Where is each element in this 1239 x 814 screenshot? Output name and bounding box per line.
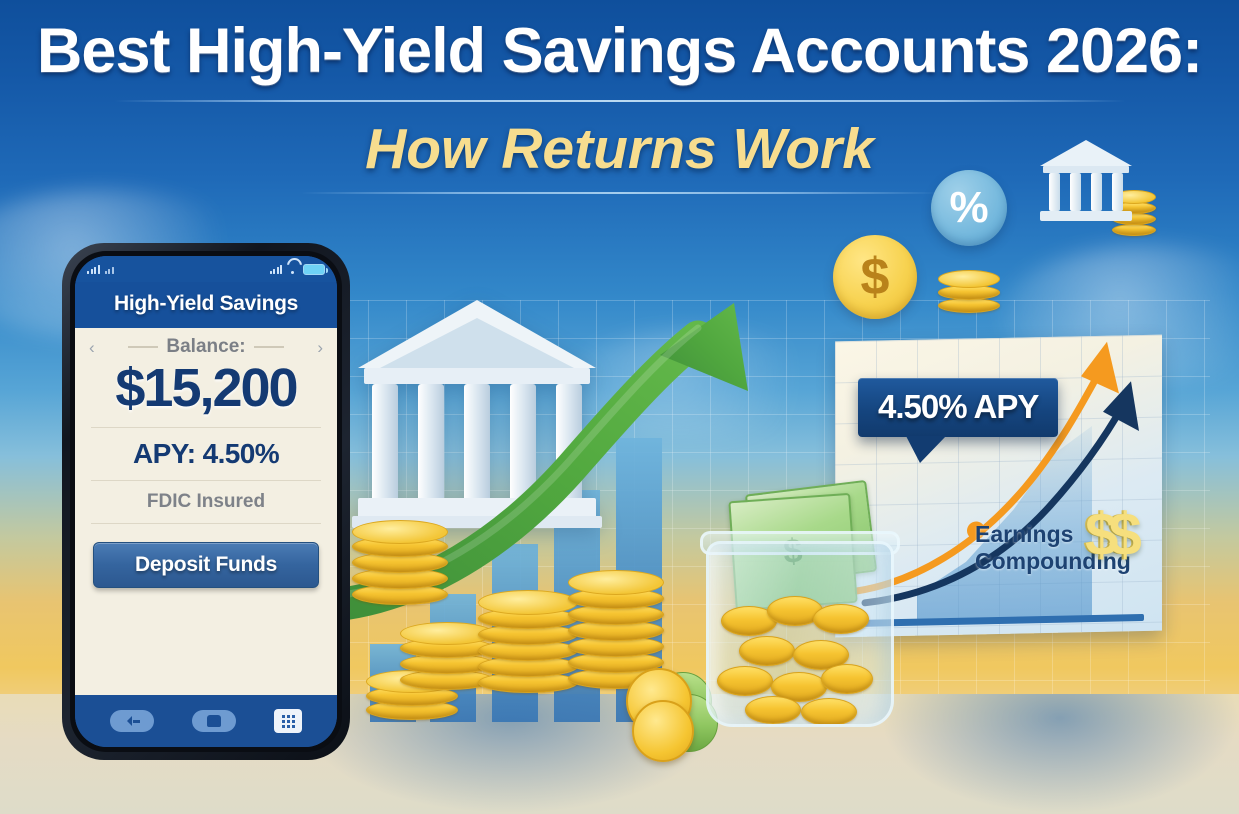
balance-label-group: Balance:	[128, 336, 283, 358]
battery-icon	[303, 264, 325, 275]
phone-bezel: High-Yield Savings ‹ Balance: › $15,200 …	[70, 251, 342, 752]
poster-canvas: Best High-Yield Savings Accounts 2026: H…	[0, 0, 1239, 814]
account-card: ‹ Balance: › $15,200 APY: 4.50% FDIC Ins…	[75, 328, 337, 695]
title-divider	[115, 100, 1125, 102]
title-block: Best High-Yield Savings Accounts 2026: H…	[0, 18, 1239, 194]
jar-body	[706, 541, 894, 727]
large-coin	[632, 700, 694, 762]
decorative-dash	[128, 346, 158, 348]
carousel-prev-button[interactable]: ‹	[89, 339, 95, 356]
balance-label: Balance:	[166, 336, 245, 358]
decorative-dash	[254, 346, 284, 348]
balance-amount: $15,200	[89, 360, 323, 417]
page-title: Best High-Yield Savings Accounts 2026:	[0, 18, 1239, 84]
dollar-coin-symbol: $	[861, 251, 890, 303]
keypad-button[interactable]	[274, 709, 302, 733]
status-bar	[75, 256, 337, 282]
back-arrow-tail	[133, 720, 140, 723]
dollar-coin-icon: $	[833, 235, 917, 319]
home-icon	[207, 715, 221, 727]
bottom-nav-bar	[75, 695, 337, 747]
subtitle-divider	[300, 192, 940, 194]
grid-keypad-icon	[282, 715, 295, 728]
signal-bars-icon	[270, 265, 283, 274]
wifi-icon	[287, 265, 298, 274]
smartphone-mockup: High-Yield Savings ‹ Balance: › $15,200 …	[62, 243, 350, 760]
status-left-group	[87, 265, 114, 274]
signal-bars-icon	[87, 265, 100, 274]
status-right-group	[270, 264, 326, 275]
app-header-title: High-Yield Savings	[75, 282, 337, 328]
ground-shadow	[880, 694, 1239, 814]
dollar-symbols: $$	[1085, 505, 1132, 565]
phone-screen: High-Yield Savings ‹ Balance: › $15,200 …	[75, 256, 337, 747]
callout-pointer	[906, 436, 946, 463]
signal-weak-icon	[105, 265, 114, 274]
carousel-next-button[interactable]: ›	[317, 339, 323, 356]
apy-callout-badge: 4.50% APY	[858, 378, 1058, 437]
apy-value: APY: 4.50%	[89, 438, 323, 470]
card-divider	[91, 427, 321, 428]
back-arrow-icon	[122, 716, 132, 726]
card-divider	[91, 480, 321, 481]
card-divider	[91, 523, 321, 524]
card-carousel-row: ‹ Balance: ›	[89, 336, 323, 358]
mini-bank-base	[1040, 211, 1132, 221]
savings-jar-icon: $ $	[700, 505, 900, 730]
page-subtitle: How Returns Work	[0, 116, 1239, 182]
fdic-insured-label: FDIC Insured	[89, 491, 323, 513]
apy-callout-text: 4.50% APY	[878, 388, 1038, 425]
home-button[interactable]	[192, 710, 236, 732]
deposit-funds-button[interactable]: Deposit Funds	[93, 542, 319, 588]
back-button[interactable]	[110, 710, 154, 732]
